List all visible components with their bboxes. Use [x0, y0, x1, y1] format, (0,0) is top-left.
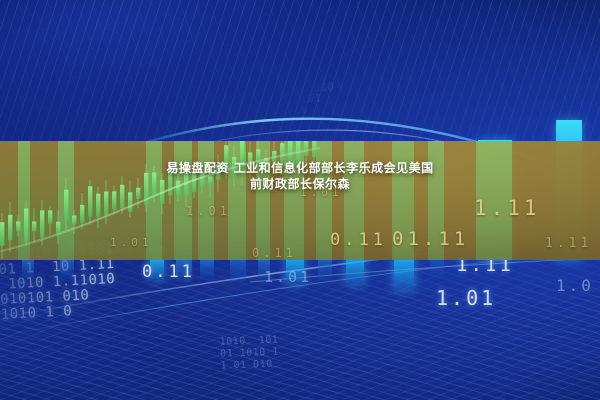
gold-numeral: 1.11 [545, 236, 592, 251]
headline-line-2: 前财政部长保尔森 [0, 176, 600, 192]
blue-numeral: 1.0 [556, 276, 594, 295]
headline-line-1: 易操盘配资 工业和信息化部部长李乐成会见美国 [0, 160, 600, 176]
blue-numeral: 1.01 [436, 286, 496, 310]
gold-numeral: 0.11 [252, 246, 297, 260]
banner-image: 0101010101010101010101 10101010101010101… [0, 0, 600, 400]
blue-numeral: 0.11 [142, 262, 195, 282]
blue-numeral: 1.01 [264, 268, 312, 286]
olive-overlay-band: 1.1101.110.111.011.010.111.011.11 [0, 141, 600, 260]
gold-numeral: 01.11 [392, 228, 469, 250]
gold-numeral: 1.11 [474, 196, 541, 220]
gold-numeral: 0.11 [330, 230, 387, 250]
gold-numeral-overlays: 1.1101.110.111.011.010.111.011.11 [0, 141, 600, 260]
gold-numeral: 1.01 [110, 236, 153, 249]
gold-numeral: 1.01 [186, 204, 231, 218]
headline-text: 易操盘配资 工业和信息化部部长李乐成会见美国 前财政部长保尔森 [0, 160, 600, 192]
